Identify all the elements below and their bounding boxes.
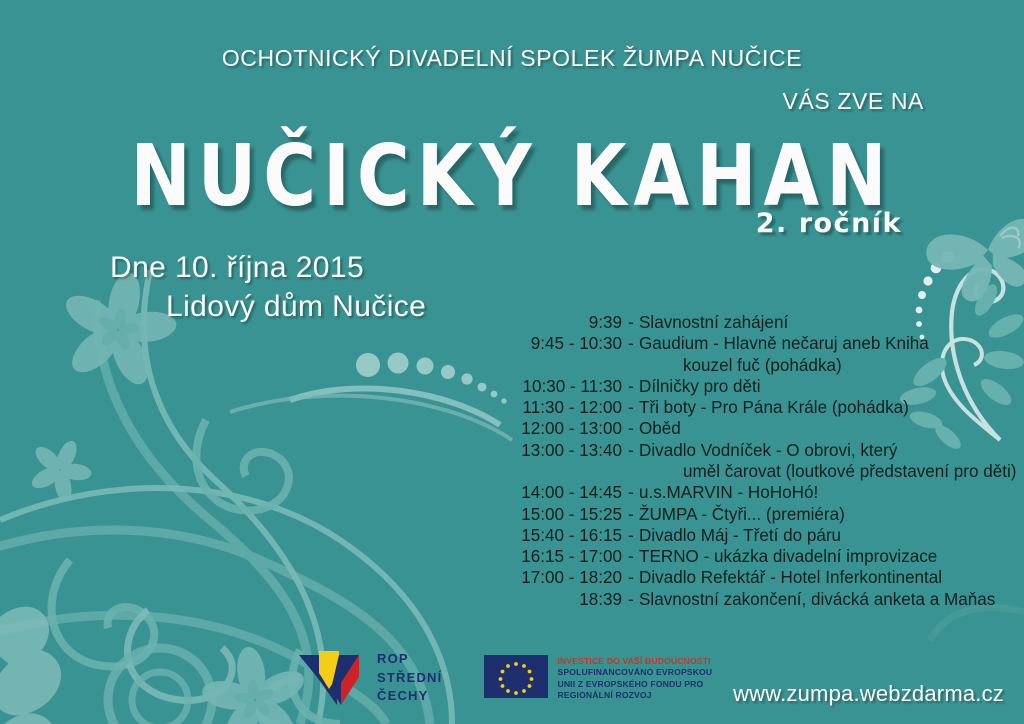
programme-item-title: Oběd — [639, 419, 681, 438]
programme-item: 9:45 - 10:30-Gaudium - Hlavně nečaruj an… — [500, 333, 1000, 354]
poster-canvas: OCHOTNICKÝ DIVADELNÍ SPOLEK ŽUMPA NUČICE… — [0, 0, 1024, 724]
programme-item-dash: - — [628, 482, 639, 503]
programme-item-time: 16:15 - 17:00 — [500, 546, 628, 567]
event-venue: Lidový dům Nučice — [110, 287, 426, 326]
programme-item-title: Gaudium - Hlavně nečaruj aneb Kniha — [639, 334, 929, 353]
programme-item-time: 10:30 - 11:30 — [500, 376, 628, 397]
programme-item-title: Slavnostní zakončení, divácká anketa a M… — [639, 590, 995, 609]
programme-item-dash: - — [628, 504, 639, 525]
programme-item-time: 9:39 — [500, 312, 628, 333]
programme-item-dash: - — [628, 418, 639, 439]
programme-item: 13:00 - 13:40-Divadlo Vodníček - O obrov… — [500, 440, 1000, 461]
programme-item-time: 14:00 - 14:45 — [500, 482, 628, 503]
programme-item: 16:15 - 17:00-TERNO - ukázka divadelní i… — [500, 546, 1000, 567]
programme-item-dash: - — [628, 333, 639, 354]
programme-item-dash: - — [628, 376, 639, 397]
programme-item: 12:00 - 13:00-Oběd — [500, 418, 1000, 439]
eu-funding-block: INVESTICE DO VAŠÍ BUDOUCNOSTI SPOLUFINAN… — [484, 655, 712, 701]
programme-item-title: ŽUMPA - Čtyři... (premiéra) — [639, 505, 845, 524]
programme-item: 17:00 - 18:20-Divadlo Refektář - Hotel I… — [500, 567, 1000, 588]
eu-flag-icon — [484, 655, 548, 698]
event-details: Dne 10. října 2015 Lidový dům Nučice — [110, 248, 426, 326]
programme-item-title: Divadlo Vodníček - O obrovi, který — [639, 441, 897, 460]
rop-mark-icon — [297, 649, 367, 707]
footer-logos: ROP STŘEDNÍ ČECHY — [297, 649, 712, 707]
programme-item: 15:40 - 16:15-Divadlo Máj - Třetí do pár… — [500, 525, 1000, 546]
programme-item: kouzel fuč (pohádka) — [500, 355, 1000, 376]
event-date: Dne 10. října 2015 — [110, 251, 364, 284]
programme-item-time: 12:00 - 13:00 — [500, 418, 628, 439]
eu-line-1: SPOLUFINANCOVÁNO EVROPSKOU — [557, 667, 712, 678]
edition-label: 2. ročník — [756, 208, 902, 239]
programme-item-dash: - — [628, 440, 639, 461]
programme-item-title: Dílničky pro děti — [639, 377, 761, 396]
eu-funding-text: INVESTICE DO VAŠÍ BUDOUCNOSTI SPOLUFINAN… — [557, 655, 712, 701]
programme-item-title: Divadlo Máj - Třetí do páru — [639, 526, 841, 545]
programme-item-title: u.s.MARVIN - HoHoHó! — [639, 483, 818, 502]
eu-line-2: UNII Z EVROPSKÉHO FONDU PRO — [557, 679, 712, 690]
programme-item: 9:39-Slavnostní zahájení — [500, 312, 1000, 333]
programme-item-dash: - — [628, 312, 639, 333]
programme-item: 15:00 - 15:25-ŽUMPA - Čtyři... (premiéra… — [500, 504, 1000, 525]
programme-item-time: 11:30 - 12:00 — [500, 397, 628, 418]
website-url[interactable]: www.zumpa.webzdarma.cz — [733, 681, 1004, 707]
programme-item-title: Divadlo Refektář - Hotel Inferkontinenta… — [639, 568, 942, 587]
rop-line-1: ROP — [377, 650, 442, 669]
programme-item-time: 18:39 — [500, 589, 628, 610]
programme-item-dash: - — [628, 567, 639, 588]
rop-logo-text: ROP STŘEDNÍ ČECHY — [377, 650, 442, 707]
programme-item-dash: - — [628, 546, 639, 567]
programme-item-dash: - — [628, 397, 639, 418]
programme-item-time: 9:45 - 10:30 — [500, 333, 628, 354]
programme-item-dash: - — [628, 589, 639, 610]
invitation-text: VÁS ZVE NA — [783, 88, 924, 115]
programme-item-title: Tři boty - Pro Pána Krále (pohádka) — [639, 398, 909, 417]
rop-line-2: STŘEDNÍ — [377, 669, 442, 688]
programme-item-title: Slavnostní zahájení — [639, 313, 788, 332]
programme-item-time: 15:00 - 15:25 — [500, 504, 628, 525]
programme-item: 10:30 - 11:30-Dílničky pro děti — [500, 376, 1000, 397]
programme-item-title: uměl čarovat (loutkové představení pro d… — [639, 462, 1017, 481]
programme-item-time: 17:00 - 18:20 — [500, 567, 628, 588]
programme-item-time: 15:40 - 16:15 — [500, 525, 628, 546]
programme-item: 11:30 - 12:00-Tři boty - Pro Pána Krále … — [500, 397, 1000, 418]
eu-headline: INVESTICE DO VAŠÍ BUDOUCNOSTI — [557, 656, 712, 667]
programme-item: uměl čarovat (loutkové představení pro d… — [500, 461, 1000, 482]
rop-logo: ROP STŘEDNÍ ČECHY — [297, 649, 442, 707]
programme-item: 18:39-Slavnostní zakončení, divácká anke… — [500, 589, 1000, 610]
programme-item-dash: - — [628, 525, 639, 546]
rop-line-3: ČECHY — [377, 687, 442, 706]
programme-item-title: kouzel fuč (pohádka) — [639, 356, 842, 375]
organisation-name: OCHOTNICKÝ DIVADELNÍ SPOLEK ŽUMPA NUČICE — [0, 45, 1024, 72]
programme-item-title: TERNO - ukázka divadelní improvizace — [639, 547, 937, 566]
programme-list: 9:39-Slavnostní zahájení9:45 - 10:30-Gau… — [500, 312, 1000, 610]
eu-line-3: REGIONÁLNÍ ROZVOJ — [557, 690, 712, 701]
programme-item: 14:00 - 14:45-u.s.MARVIN - HoHoHó! — [500, 482, 1000, 503]
programme-item-time: 13:00 - 13:40 — [500, 440, 628, 461]
